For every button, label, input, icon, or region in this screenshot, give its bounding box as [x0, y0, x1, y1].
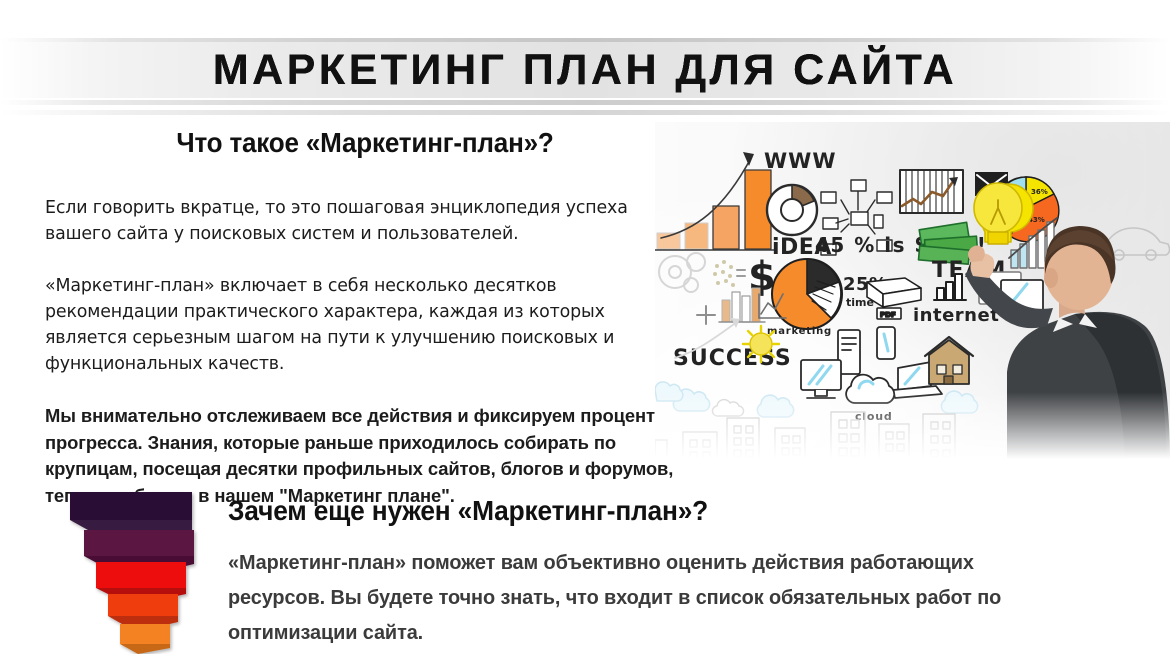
- funnel-segment-5: [120, 624, 170, 644]
- doodle-equals-sign: [737, 270, 745, 276]
- doodle-pie-label-1: 36%: [1031, 188, 1048, 196]
- doodle-label-success: SUCCESS: [673, 346, 792, 371]
- doodle-sun-icon: [743, 326, 779, 362]
- doodle-donut-chart: [767, 185, 817, 235]
- section-why-needed: Зачем еще нужен «Маркетинг-план»? «Марке…: [228, 494, 1148, 650]
- doodle-label-internet: internet: [913, 305, 999, 326]
- title-banner: МАРКЕТИНГ ПЛАН ДЛЯ САЙТА МАРКЕТИНГ ПЛАН …: [0, 0, 1170, 114]
- doodle-cloud-icon-main: [846, 375, 894, 403]
- banner-divider-bottom-2: [0, 110, 1170, 115]
- funnel-fold-5: [120, 644, 170, 654]
- banner-divider-bottom-1: [0, 100, 1170, 105]
- paragraph-contents: «Маркетинг-план» включает в себя несколь…: [45, 273, 685, 377]
- marketing-doodle-photo: WWW: [655, 122, 1170, 470]
- page-title: МАРКЕТИНГ ПЛАН ДЛЯ САЙТА: [0, 44, 1170, 96]
- doodle-illustration: WWW: [655, 122, 1170, 470]
- doodle-monitor-icon: [801, 360, 841, 398]
- doodle-line-chart-framed: [900, 170, 963, 213]
- funnel-segment-3: [96, 562, 186, 588]
- funnel-segment-2: [84, 530, 194, 556]
- section-what-is: Что такое «Маркетинг-план»? Если говорит…: [45, 126, 685, 509]
- funnel-segment-4: [108, 594, 178, 616]
- doodle-label-www: WWW: [764, 149, 837, 173]
- doodle-label-marketing: marketing: [767, 326, 832, 337]
- doodle-smartphone-icon: [877, 327, 895, 359]
- doodle-small-bar-chart: [697, 288, 765, 324]
- funnel-segment-1: [70, 492, 192, 520]
- paragraph-why-needed: «Маркетинг-план» поможет вам объективно …: [228, 545, 1072, 650]
- doodle-label-pdf: PDF: [880, 311, 896, 319]
- doodle-house-icon: [925, 337, 973, 384]
- doodle-city-skyline: [655, 412, 955, 470]
- heading-what-is: Что такое «Маркетинг-план»?: [67, 126, 662, 159]
- zigzag-ribbon-funnel: [66, 488, 214, 654]
- paragraph-intro: Если говорить вкратце, то это пошаговая …: [45, 195, 685, 247]
- heading-why-needed: Зачем еще нужен «Маркетинг-план»?: [228, 494, 1093, 528]
- doodle-dot-cluster: [713, 260, 735, 287]
